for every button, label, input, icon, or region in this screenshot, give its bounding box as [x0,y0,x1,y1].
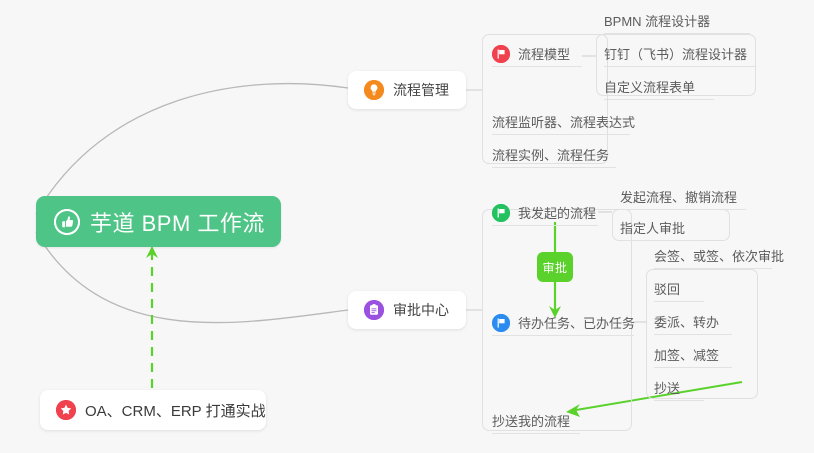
leaf-add-remove-sign[interactable]: 加签、减签 [654,345,732,368]
star-icon [56,400,76,420]
dashed-up-arrow-head [146,246,158,258]
leaf-my-initiated[interactable]: 我发起的流程 [492,203,598,226]
leaf-label-bpmn-designer: BPMN 流程设计器 [604,11,710,30]
root-label: 芋道 BPM 工作流 [90,206,265,238]
lightbulb-icon [364,80,384,100]
leaf-label-flow-model: 流程模型 [518,44,570,63]
leaf-label-assignee-approval: 指定人审批 [620,218,685,237]
branch-node-approval-center[interactable]: 审批中心 [348,291,466,329]
leaf-cc[interactable]: 抄送 [654,378,704,401]
leaf-label-flow-listener: 流程监听器、流程表达式 [492,112,635,131]
integration-node-label: OA、CRM、ERP 打通实战 [85,400,266,421]
leaf-label-countersign: 会签、或签、依次审批 [654,246,784,265]
root-node[interactable]: 芋道 BPM 工作流 [36,196,281,247]
leaf-flow-instance[interactable]: 流程实例、流程任务 [492,145,616,168]
flag-icon [492,314,510,332]
leaf-flow-listener[interactable]: 流程监听器、流程表达式 [492,112,630,135]
leaf-bpmn-designer[interactable]: BPMN 流程设计器 [604,11,750,34]
leaf-delegate-transfer[interactable]: 委派、转办 [654,312,732,335]
leaf-label-reject: 驳回 [654,279,680,298]
leaf-cc-to-me[interactable]: 抄送我的流程 [492,411,580,434]
approve-tag[interactable]: 审批 [537,252,573,282]
leaf-label-todo-done-tasks: 待办任务、已办任务 [518,313,635,332]
leaf-label-custom-form: 自定义流程表单 [604,77,695,96]
leaf-label-start-cancel-process: 发起流程、撤销流程 [620,187,737,206]
branch-node-flow-management[interactable]: 流程管理 [348,71,466,109]
leaf-label-add-remove-sign: 加签、减签 [654,345,719,364]
leaf-assignee-approval[interactable]: 指定人审批 [620,218,700,241]
leaf-todo-done-tasks[interactable]: 待办任务、已办任务 [492,313,634,336]
leaf-flow-model[interactable]: 流程模型 [492,44,582,67]
clipboard-icon [364,300,384,320]
leaf-start-cancel-process[interactable]: 发起流程、撤销流程 [620,187,746,210]
leaf-dingtalk-designer[interactable]: 钉钉（飞书）流程设计器 [604,44,756,67]
branch-label-approval-center: 审批中心 [393,300,449,320]
edge-root-to-flow-management [36,84,348,214]
flag-icon [492,45,510,63]
approve-tag-label: 审批 [542,259,567,276]
thumbs-up-icon [54,209,80,235]
leaf-custom-form[interactable]: 自定义流程表单 [604,77,714,100]
leaf-label-cc-to-me: 抄送我的流程 [492,411,570,430]
leaf-reject[interactable]: 驳回 [654,279,704,302]
flag-icon [492,204,510,222]
branch-label-flow-management: 流程管理 [393,80,449,100]
leaf-label-cc: 抄送 [654,378,680,397]
mindmap-canvas: 芋道 BPM 工作流 流程管理 流程模型 BPMN 流程设计器 [0,0,814,453]
integration-node[interactable]: OA、CRM、ERP 打通实战 [40,390,266,430]
leaf-countersign[interactable]: 会签、或签、依次审批 [654,246,772,269]
leaf-label-dingtalk-designer: 钉钉（飞书）流程设计器 [604,44,747,63]
leaf-label-delegate-transfer: 委派、转办 [654,312,719,331]
leaf-label-flow-instance: 流程实例、流程任务 [492,145,609,164]
leaf-label-my-initiated: 我发起的流程 [518,203,596,222]
